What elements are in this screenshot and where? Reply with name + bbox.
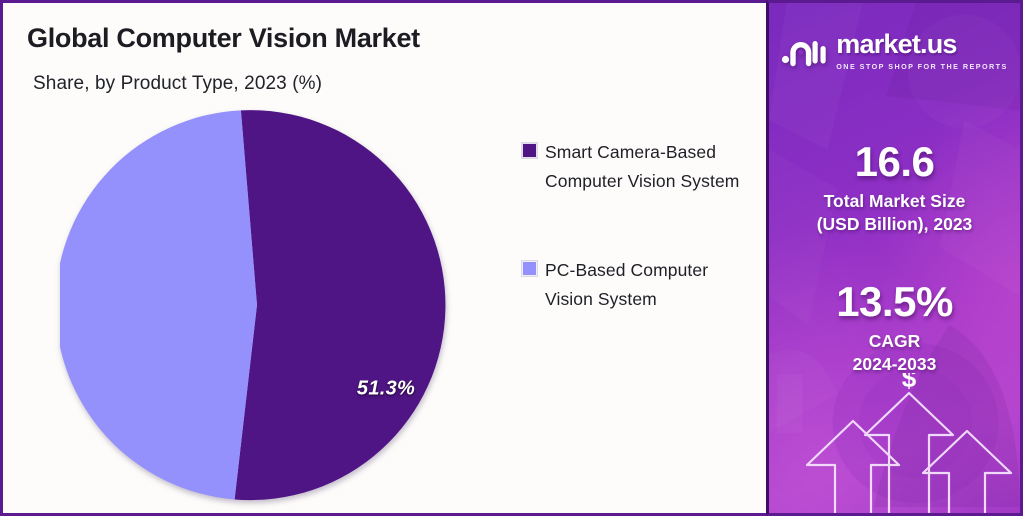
logo-wordmark: market.us <box>836 31 1007 58</box>
branding-stats-panel: market.us ONE STOP SHOP FOR THE REPORTS … <box>766 0 1023 516</box>
stat-value: 13.5% <box>769 280 1020 324</box>
stat-caption: CAGR 2024-2033 <box>769 330 1020 376</box>
market-us-logo-icon <box>781 35 827 67</box>
pie-slice-value-label: 51.3% <box>357 378 415 401</box>
legend-swatch-icon <box>522 261 537 276</box>
chart-subtitle: Share, by Product Type, 2023 (%) <box>33 73 322 95</box>
legend-item-label: Smart Camera-Based Computer Vision Syste… <box>545 138 742 196</box>
legend-item-smart-camera[interactable]: Smart Camera-Based Computer Vision Syste… <box>522 138 742 196</box>
stat-total-market-size: 16.6 Total Market Size (USD Billion), 20… <box>769 140 1020 236</box>
stat-caption-line2: (USD Billion), 2023 <box>769 213 1020 236</box>
logo[interactable]: market.us ONE STOP SHOP FOR THE REPORTS <box>769 31 1020 71</box>
market-infographic: Global Computer Vision Market Share, by … <box>0 0 1023 516</box>
stat-value: 16.6 <box>769 140 1020 184</box>
legend-item-pc-based[interactable]: PC-Based Computer Vision System <box>522 256 742 314</box>
logo-tagline: ONE STOP SHOP FOR THE REPORTS <box>836 62 1007 71</box>
pie-chart-svg <box>60 108 454 502</box>
pie-slice-smart-camera <box>235 110 446 500</box>
pie-chart: 51.3% <box>60 108 454 502</box>
stat-caption-line1: CAGR <box>769 330 1020 353</box>
chart-panel: Global Computer Vision Market Share, by … <box>0 0 766 516</box>
growth-arrows-icon: $ <box>769 373 1023 513</box>
page-title: Global Computer Vision Market <box>27 23 420 54</box>
legend-swatch-icon <box>522 143 537 158</box>
stat-caption: Total Market Size (USD Billion), 2023 <box>769 190 1020 236</box>
pie-slice-pc-based <box>60 110 257 499</box>
stat-cagr: 13.5% CAGR 2024-2033 <box>769 280 1020 376</box>
legend-item-label: PC-Based Computer Vision System <box>545 256 742 314</box>
chart-legend: Smart Camera-Based Computer Vision Syste… <box>522 138 742 374</box>
dollar-symbol: $ <box>902 373 917 393</box>
stat-caption-line1: Total Market Size <box>769 190 1020 213</box>
